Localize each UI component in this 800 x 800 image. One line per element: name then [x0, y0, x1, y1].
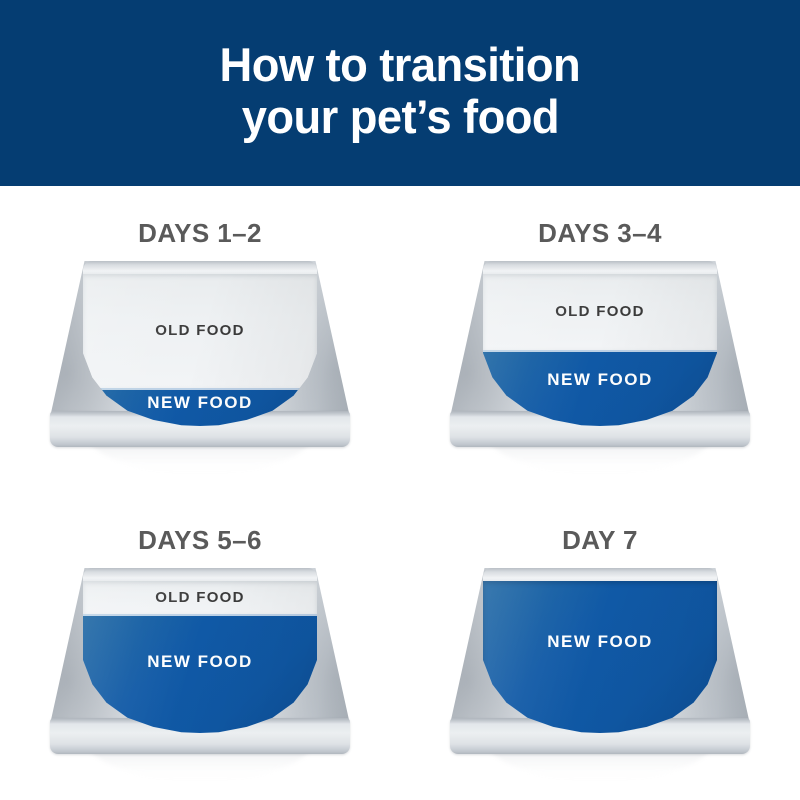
stage-day-label: DAYS 5–6: [138, 525, 262, 556]
old-food-label: OLD FOOD: [83, 322, 317, 339]
old-food-label: OLD FOOD: [83, 589, 317, 606]
header-title-line-2: your pet’s food: [241, 94, 558, 140]
food-bowl: NEW FOOD: [450, 568, 750, 783]
food-level-divider: [83, 614, 317, 616]
stages-grid: DAYS 1–2OLD FOODNEW FOODDAYS 3–4OLD FOOD…: [0, 186, 800, 800]
new-food-label: NEW FOOD: [483, 632, 717, 652]
food-bowl: OLD FOODNEW FOOD: [50, 568, 350, 783]
stage-cell-2: DAYS 3–4OLD FOODNEW FOOD: [400, 186, 800, 493]
food-bowl: OLD FOODNEW FOOD: [450, 261, 750, 476]
stage-day-label: DAY 7: [562, 525, 638, 556]
stage-cell-1: DAYS 1–2OLD FOODNEW FOOD: [0, 186, 400, 493]
header-banner: How to transition your pet’s food: [0, 0, 800, 186]
infographic-page: How to transition your pet’s food DAYS 1…: [0, 0, 800, 800]
old-food-label: OLD FOOD: [483, 303, 717, 320]
new-food-label: NEW FOOD: [83, 652, 317, 672]
food-level-divider: [483, 350, 717, 352]
new-food-portion: [483, 581, 717, 733]
stage-day-label: DAYS 3–4: [538, 218, 662, 249]
bowl-inner-cavity: OLD FOODNEW FOOD: [83, 581, 317, 733]
header-title-line-1: How to transition: [220, 42, 581, 88]
stage-cell-4: DAY 7NEW FOOD: [400, 493, 800, 800]
bowl-inner-cavity: NEW FOOD: [483, 581, 717, 733]
new-food-label: NEW FOOD: [483, 370, 717, 390]
food-bowl: OLD FOODNEW FOOD: [50, 261, 350, 476]
stage-cell-3: DAYS 5–6OLD FOODNEW FOOD: [0, 493, 400, 800]
bowl-inner-cavity: OLD FOODNEW FOOD: [483, 274, 717, 426]
stage-day-label: DAYS 1–2: [138, 218, 262, 249]
bowl-inner-cavity: OLD FOODNEW FOOD: [83, 274, 317, 426]
food-level-divider: [83, 388, 317, 390]
